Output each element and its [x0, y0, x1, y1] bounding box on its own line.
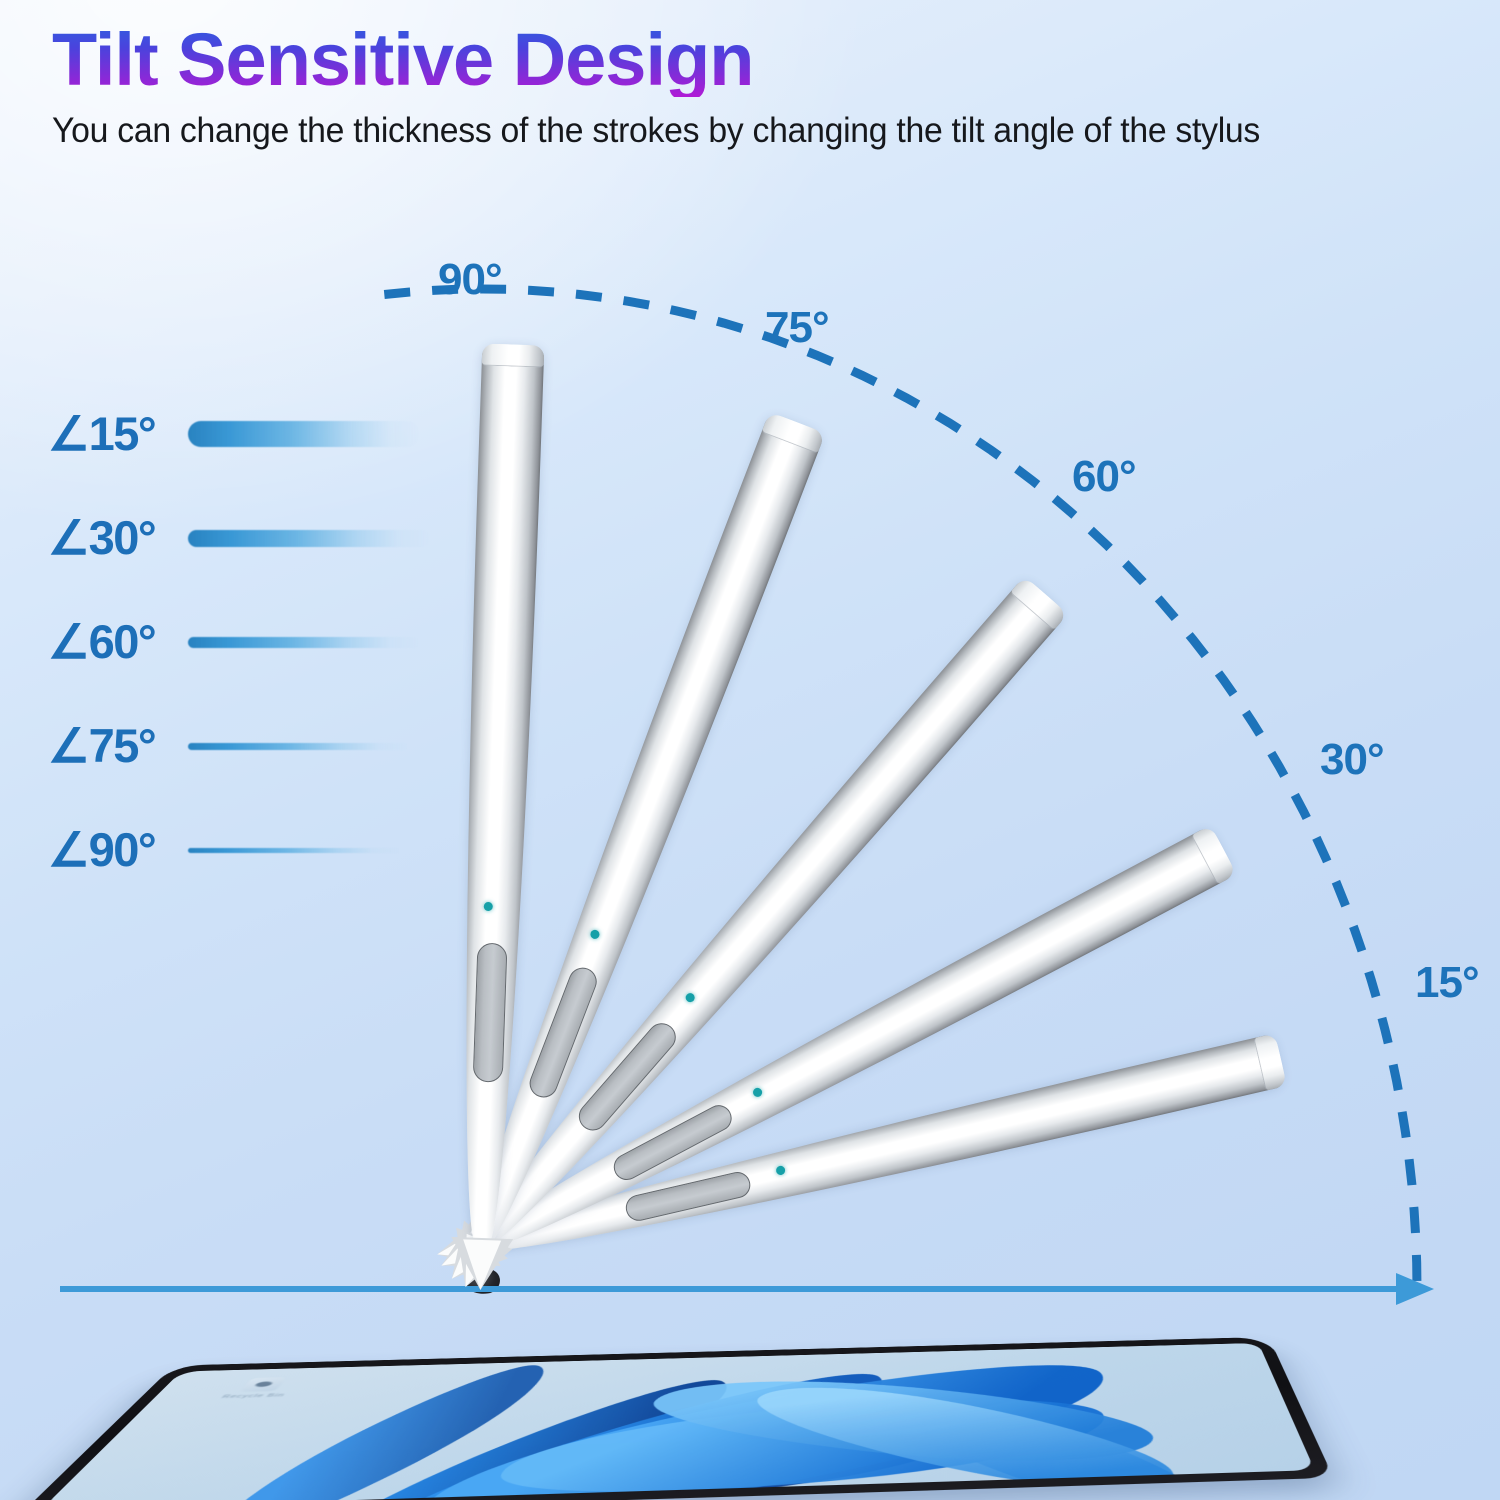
stylus-tip-inner	[461, 1239, 501, 1290]
legend-stroke-sample	[188, 830, 448, 870]
wallpaper-bloom	[181, 1343, 1258, 1371]
legend-row: ∠75°	[48, 694, 448, 798]
recycle-bin-icon	[240, 1377, 288, 1392]
arc-angle-label: 75°	[765, 303, 829, 353]
legend-stroke-sample	[188, 622, 448, 662]
arc-angle-label: 30°	[1320, 735, 1384, 785]
stroke-mark	[188, 637, 420, 648]
legend-angle-label: ∠30°	[48, 510, 188, 566]
legend-angle-label: ∠90°	[48, 822, 188, 878]
desktop-icon-label: Recycle Bin	[184, 1392, 323, 1401]
arc-angle-label: 90°	[438, 255, 502, 305]
page-title: Tilt Sensitive Design	[52, 22, 1462, 97]
legend-row: ∠15°	[48, 382, 448, 486]
legend-stroke-sample	[188, 518, 448, 558]
stroke-mark	[188, 530, 430, 547]
tablet-screen: Recycle Bin	[41, 1343, 1315, 1500]
stylus-cap	[482, 343, 545, 367]
legend-angle-label: ∠15°	[48, 406, 188, 462]
legend-row: ∠30°	[48, 486, 448, 590]
legend-angle-label: ∠60°	[48, 614, 188, 670]
legend-stroke-sample	[188, 726, 448, 766]
arc-angle-label: 60°	[1072, 452, 1136, 502]
page-subtitle: You can change the thickness of the stro…	[52, 111, 1413, 151]
arc-angle-label: 15°	[1415, 958, 1479, 1008]
legend-stroke-sample	[188, 414, 448, 454]
stroke-mark	[188, 421, 420, 447]
stroke-thickness-legend: ∠15°∠30°∠60°∠75°∠90°	[48, 382, 448, 902]
stroke-mark	[188, 848, 400, 853]
stroke-mark	[188, 743, 408, 750]
legend-row: ∠60°	[48, 590, 448, 694]
desktop-icon[interactable]: Recycle Bin	[178, 1376, 335, 1406]
legend-angle-label: ∠75°	[48, 718, 188, 774]
legend-row: ∠90°	[48, 798, 448, 902]
header: Tilt Sensitive Design You can change the…	[52, 22, 1462, 151]
stylus-side-button[interactable]	[473, 942, 508, 1082]
tablet-body: Recycle Bin	[15, 1337, 1333, 1500]
